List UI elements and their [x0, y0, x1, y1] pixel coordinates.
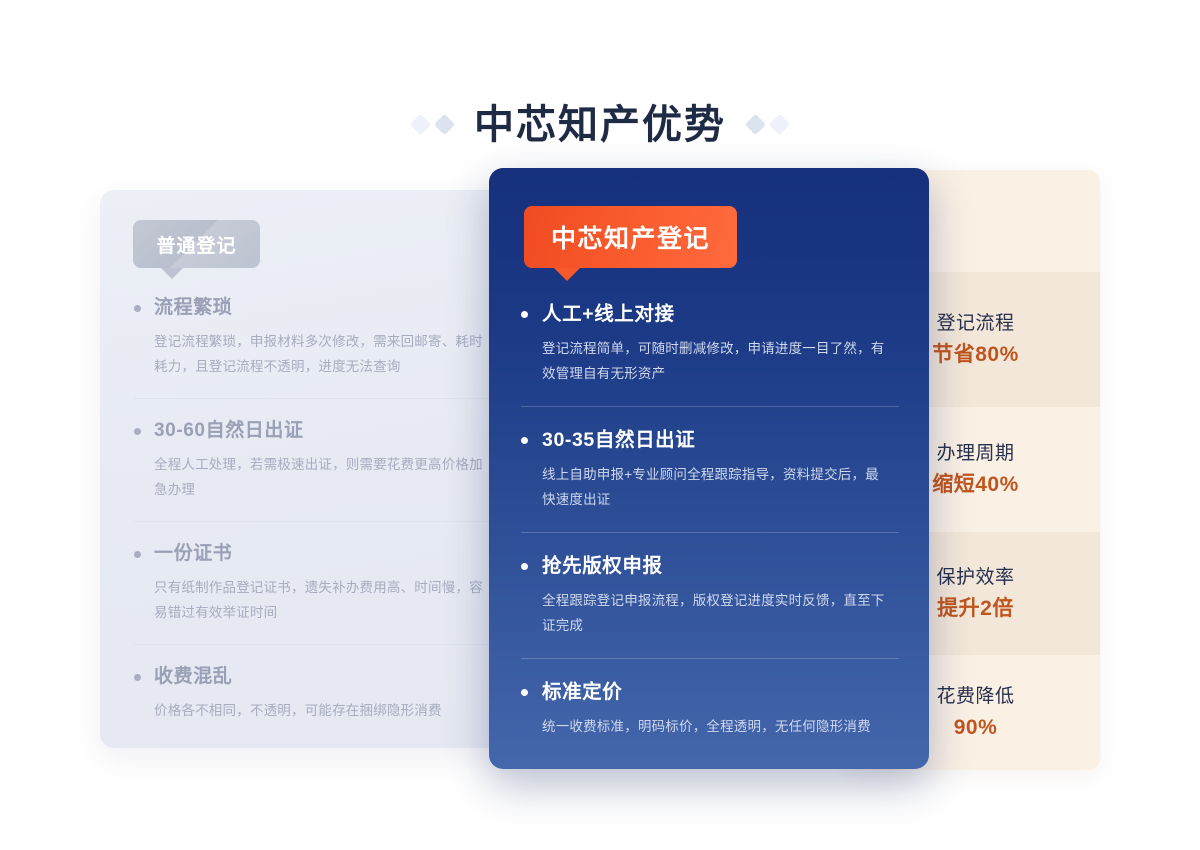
list-item: 收费混乱 价格各不相同，不透明，可能存在捆绑隐形消费	[134, 644, 494, 742]
list-item-head: 收费混乱	[134, 664, 494, 690]
list-item: 30-60自然日出证 全程人工处理，若需极速出证，则需要花费更高价格加急办理	[134, 398, 494, 521]
list-item-head: 30-60自然日出证	[134, 418, 494, 444]
list-item: 标准定价 统一收费标准，明码标价，全程透明，无任何隐形消费	[521, 658, 899, 759]
diamond-decor-icon	[769, 114, 790, 135]
list-item-head: 30-35自然日出证	[521, 427, 899, 453]
ordinary-badge: 普通登记	[133, 220, 260, 268]
list-item: 抢先版权申报 全程跟踪登记申报流程，版权登记进度实时反馈，直至下证完成	[521, 532, 899, 658]
list-item-title: 流程繁琐	[154, 295, 232, 321]
bullet-icon	[134, 551, 141, 558]
diamond-decor-icon	[434, 114, 455, 135]
list-item-desc: 统一收费标准，明码标价，全程透明，无任何隐形消费	[542, 714, 890, 739]
bullet-icon	[134, 305, 141, 312]
list-item-title: 30-60自然日出证	[154, 418, 304, 444]
list-item-desc: 全程跟踪登记申报流程，版权登记进度实时反馈，直至下证完成	[542, 588, 890, 638]
list-item-title: 30-35自然日出证	[542, 427, 695, 453]
bullet-icon	[521, 311, 528, 318]
list-item-title: 标准定价	[542, 679, 622, 705]
stat-value: 缩短40%	[932, 469, 1019, 501]
stat-value: 提升2倍	[937, 593, 1014, 625]
list-item-head: 一份证书	[134, 541, 494, 567]
list-item-desc: 价格各不相同，不透明，可能存在捆绑隐形消费	[154, 698, 484, 723]
featured-badge: 中芯知产登记	[524, 206, 737, 268]
stat-label: 办理周期	[936, 439, 1014, 469]
stat-value: 90%	[954, 712, 998, 744]
bullet-icon	[521, 563, 528, 570]
list-item: 一份证书 只有纸制作品登记证书，遗失补办费用高、时间慢，容易错过有效举证时间	[134, 521, 494, 644]
list-item-head: 标准定价	[521, 679, 899, 705]
list-item-desc: 线上自助申报+专业顾问全程跟踪指导，资料提交后，最快速度出证	[542, 462, 890, 512]
stat-label: 花费降低	[936, 682, 1014, 712]
list-item-desc: 登记流程繁琐，申报材料多次修改，需来回邮寄、耗时耗力，且登记流程不透明，进度无法…	[154, 329, 484, 379]
featured-badge-label: 中芯知产登记	[551, 219, 710, 255]
page-title: 中芯知产优势	[474, 99, 726, 151]
list-item-head: 人工+线上对接	[521, 301, 899, 327]
list-item-title: 收费混乱	[154, 664, 232, 690]
ordinary-feature-list: 流程繁琐 登记流程繁琐，申报材料多次修改，需来回邮寄、耗时耗力，且登记流程不透明…	[134, 295, 494, 742]
ordinary-registration-card: 普通登记 流程繁琐 登记流程繁琐，申报材料多次修改，需来回邮寄、耗时耗力，且登记…	[100, 190, 520, 748]
list-item-desc: 登记流程简单，可随时删减修改，申请进度一目了然，有效管理自有无形资产	[542, 336, 890, 386]
bullet-icon	[521, 689, 528, 696]
list-item: 30-35自然日出证 线上自助申报+专业顾问全程跟踪指导，资料提交后，最快速度出…	[521, 406, 899, 532]
list-item: 人工+线上对接 登记流程简单，可随时删减修改，申请进度一目了然，有效管理自有无形…	[521, 301, 899, 406]
diamond-decor-icon	[410, 114, 431, 135]
list-item-head: 流程繁琐	[134, 295, 494, 321]
featured-feature-list: 人工+线上对接 登记流程简单，可随时删减修改，申请进度一目了然，有效管理自有无形…	[521, 301, 899, 759]
list-item-title: 一份证书	[154, 541, 232, 567]
list-item-desc: 只有纸制作品登记证书，遗失补办费用高、时间慢，容易错过有效举证时间	[154, 575, 484, 625]
ordinary-badge-label: 普通登记	[156, 231, 236, 258]
list-item-title: 人工+线上对接	[542, 301, 675, 327]
page-header: 中芯知产优势	[0, 72, 1200, 178]
bullet-icon	[521, 437, 528, 444]
stat-label: 保护效率	[936, 563, 1014, 593]
spacer	[452, 124, 474, 125]
stat-label: 登记流程	[936, 309, 1014, 339]
list-item-head: 抢先版权申报	[521, 553, 899, 579]
list-item-title: 抢先版权申报	[542, 553, 663, 579]
bullet-icon	[134, 674, 141, 681]
list-item: 流程繁琐 登记流程繁琐，申报材料多次修改，需来回邮寄、耗时耗力，且登记流程不透明…	[134, 295, 494, 398]
diamond-decor-icon	[745, 114, 766, 135]
featured-registration-card: 中芯知产登记 人工+线上对接 登记流程简单，可随时删减修改，申请进度一目了然，有…	[489, 168, 929, 769]
stat-value: 节省80%	[932, 339, 1019, 371]
list-item-desc: 全程人工处理，若需极速出证，则需要花费更高价格加急办理	[154, 452, 484, 502]
bullet-icon	[134, 428, 141, 435]
